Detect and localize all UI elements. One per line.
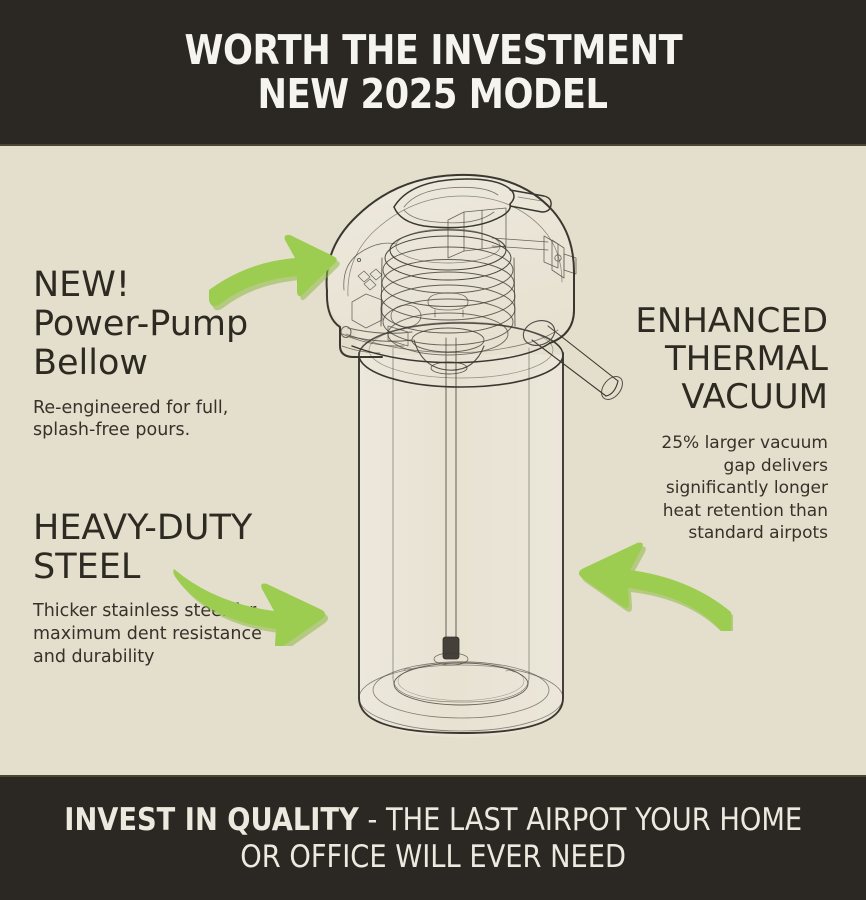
footer-rest-text: - THE LAST AIRPOT YOUR HOME (359, 802, 802, 838)
footer-line-1: INVEST IN QUALITY - THE LAST AIRPOT YOUR… (64, 802, 802, 839)
airpot-body-group (359, 322, 563, 738)
lid-assembly-group (327, 175, 576, 374)
header-band: WORTH THE INVESTMENT NEW 2025 MODEL (0, 0, 866, 146)
headline-line-2: NEW 2025 MODEL (258, 72, 608, 116)
callout-heavy-duty-steel-title: HEAVY-DUTY STEEL (33, 509, 333, 587)
callout-enhanced-thermal-vacuum-description: 25% larger vacuum gap delivers significa… (578, 432, 828, 544)
callout-heavy-duty-steel: HEAVY-DUTY STEEL Thicker stainless steel… (33, 509, 333, 669)
callout-enhanced-thermal-vacuum: ENHANCED THERMAL VACUUM 25% larger vacuu… (578, 302, 828, 544)
footer-line-2: OR OFFICE WILL EVER NEED (240, 839, 626, 876)
footer-strong-text: INVEST IN QUALITY (64, 802, 358, 838)
headline-line-1: WORTH THE INVESTMENT (184, 28, 682, 72)
infographic-canvas: WORTH THE INVESTMENT NEW 2025 MODEL (0, 0, 866, 900)
footer-band: INVEST IN QUALITY - THE LAST AIRPOT YOUR… (0, 775, 866, 900)
callout-power-pump-title: NEW! Power-Pump Bellow (33, 266, 333, 384)
callout-heavy-duty-steel-description: Thicker stainless steel for maximum dent… (33, 600, 333, 668)
callout-power-pump: NEW! Power-Pump Bellow Re-engineered for… (33, 266, 333, 442)
callout-enhanced-thermal-vacuum-title: ENHANCED THERMAL VACUUM (578, 302, 828, 416)
callout-power-pump-description: Re-engineered for full, splash-free pour… (33, 397, 333, 443)
airpot-cutaway-illustration (296, 150, 626, 775)
